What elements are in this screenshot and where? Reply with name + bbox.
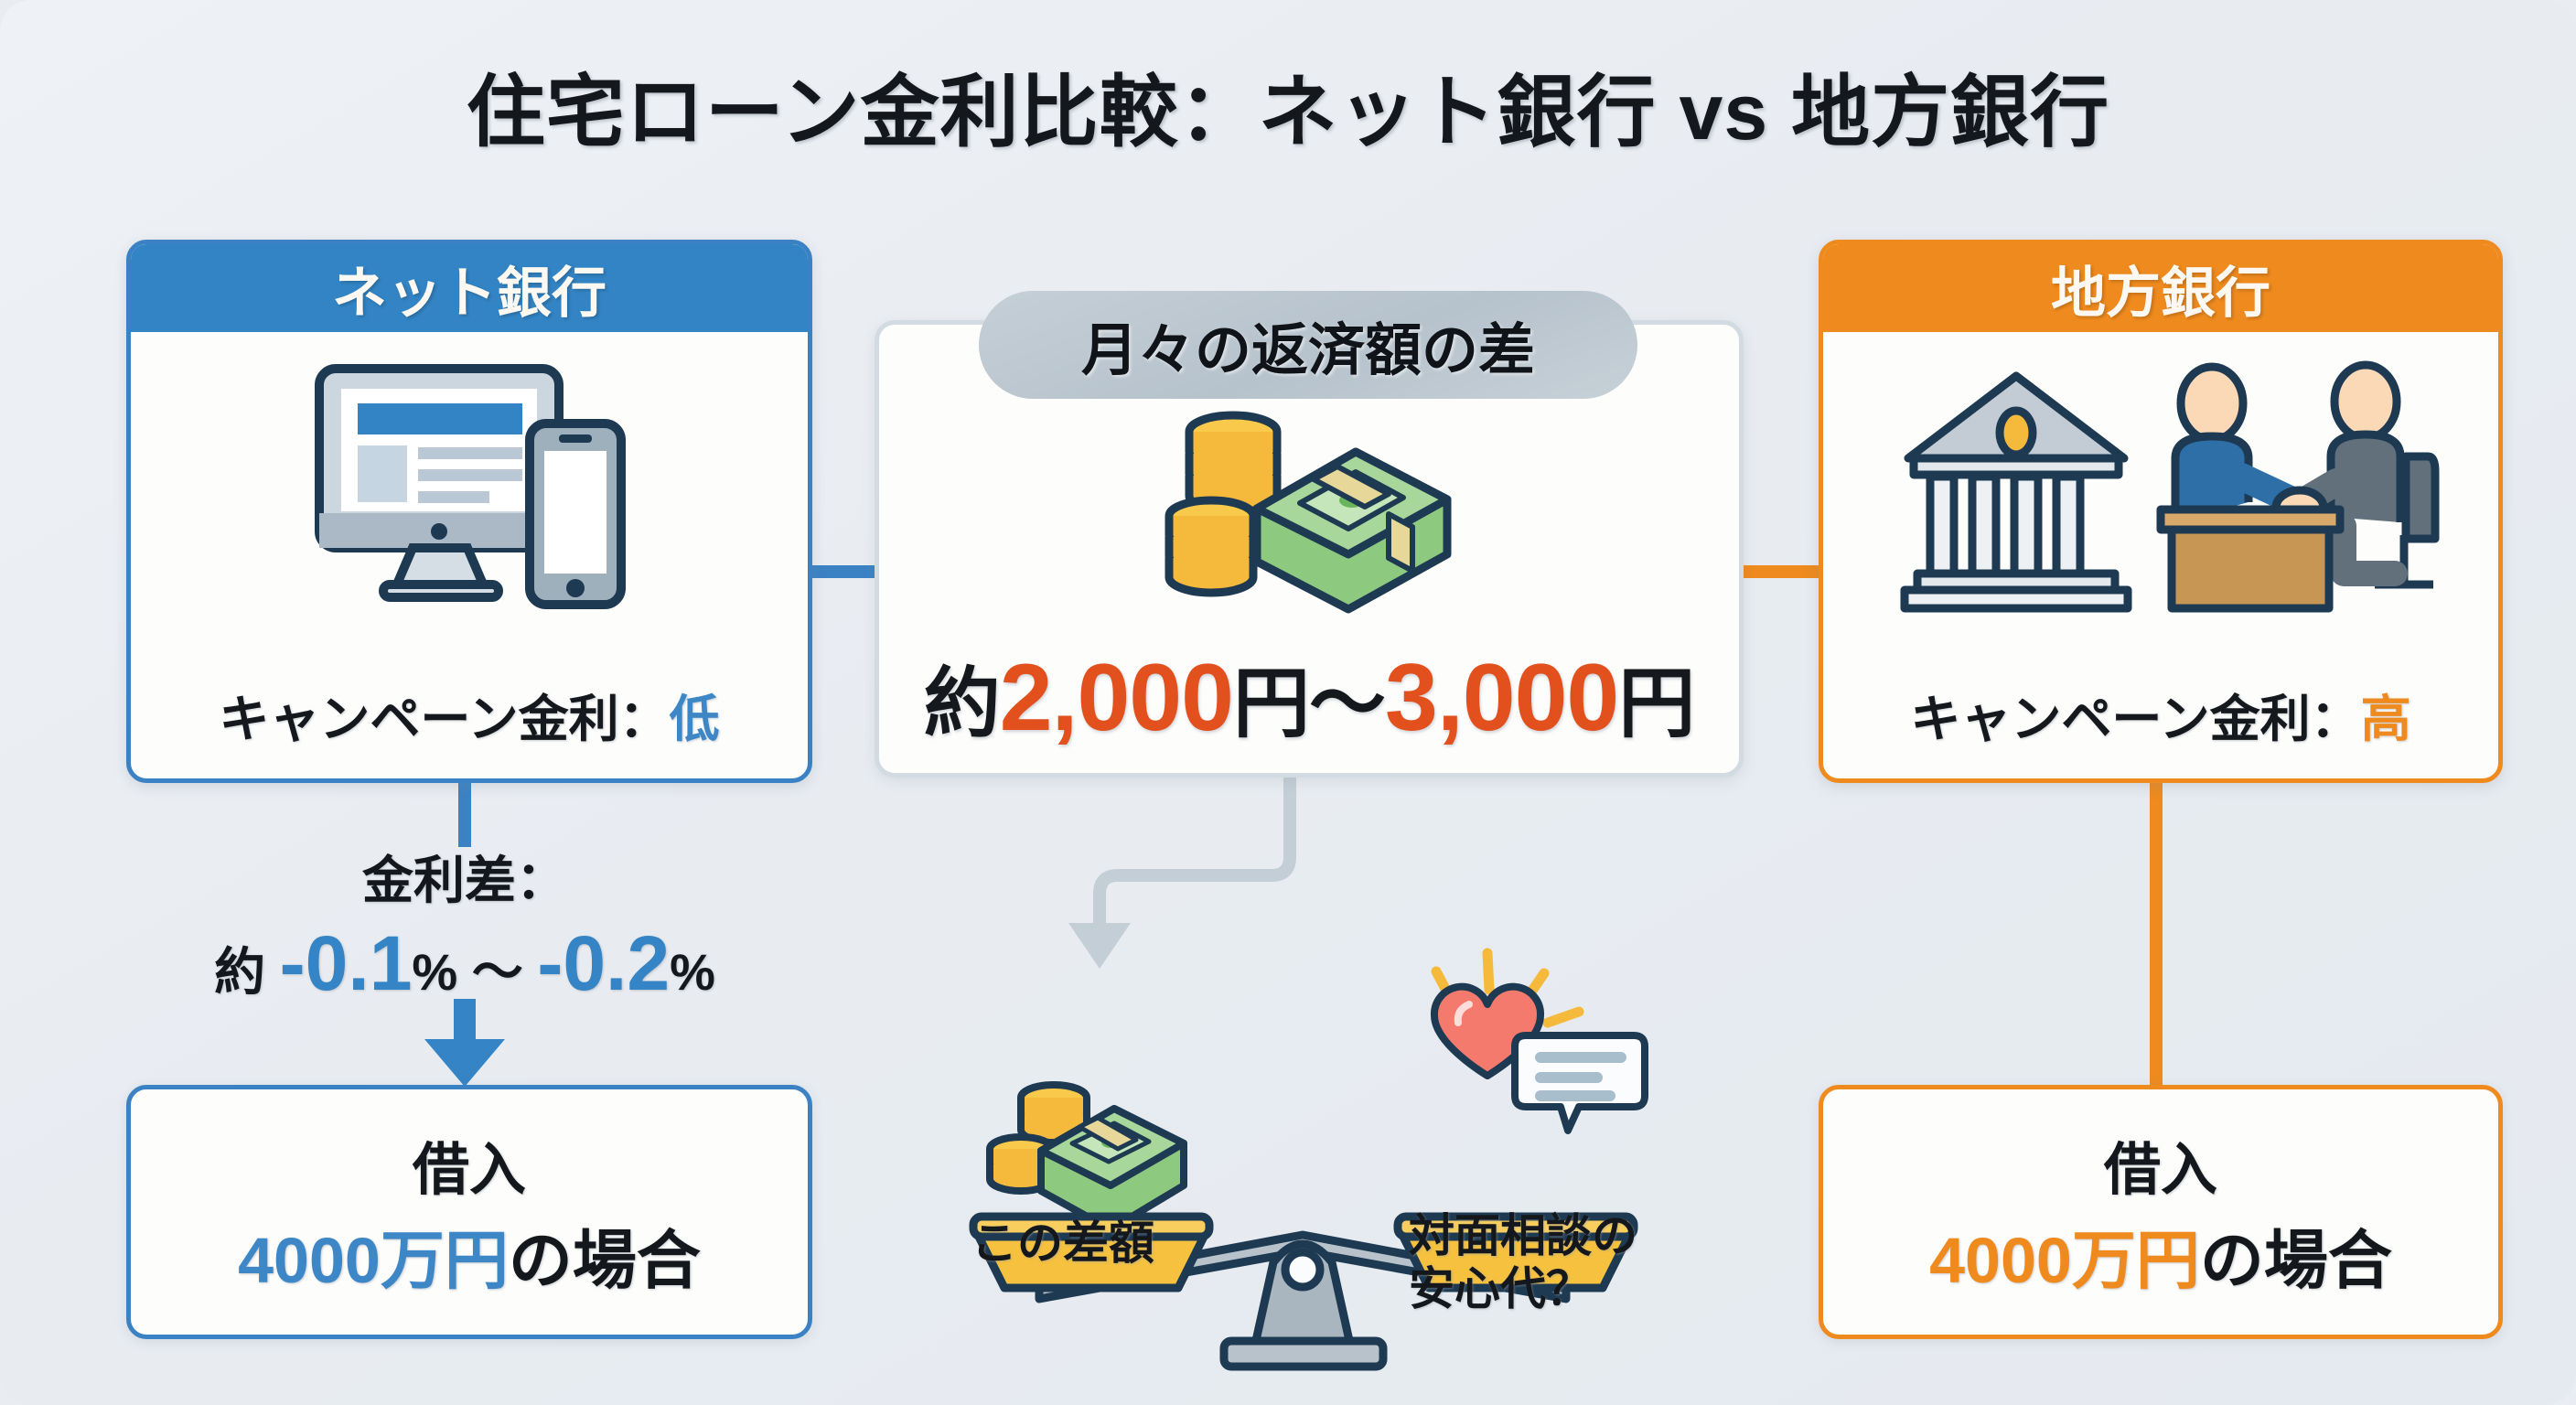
- net-bank-body: キャンペーン金利：低: [131, 332, 808, 778]
- rate-difference-value: 約 -0.1% 〜 -0.2%: [126, 919, 803, 1008]
- regional-result-suffix: の場合: [2200, 1225, 2392, 1296]
- center-amount: 約2,000円〜3,000円: [924, 642, 1695, 753]
- net-bank-result-box: 借入 4000万円の場合: [126, 1085, 812, 1339]
- regional-result-line1: 借入: [2104, 1123, 2217, 1206]
- center-amount-from: 2,000: [1000, 645, 1233, 751]
- scale-label-right: 対面相談の 安心代？: [1409, 1209, 1637, 1315]
- net-result-line1: 借入: [413, 1123, 526, 1206]
- center-amount-to: 3,000: [1385, 645, 1618, 751]
- center-prefix: 約: [924, 660, 1000, 746]
- desktop-and-phone-icon: [305, 356, 634, 621]
- regional-result-line2: 4000万円の場合: [1929, 1209, 2392, 1302]
- rate-difference-label: 金利差：: [126, 840, 803, 914]
- net-result-suffix: の場合: [509, 1225, 701, 1296]
- center-badge: 月々の返済額の差: [979, 291, 1637, 399]
- rate-difference-block: 金利差： 約 -0.1% 〜 -0.2%: [126, 840, 803, 1008]
- net-bank-caption-value: 低: [670, 691, 720, 747]
- scale-label-right-line1: 対面相談の: [1409, 1209, 1637, 1262]
- connector-regional-card-down: [2150, 774, 2163, 1089]
- regional-result-amount: 4000万円: [1929, 1225, 2200, 1296]
- connector-center-to-regional: [1738, 565, 1822, 578]
- connector-net-card-down: [458, 774, 471, 847]
- rate-diff-to: -0.2: [537, 920, 670, 1006]
- rate-diff-prefix: 約: [214, 943, 280, 1001]
- infographic-canvas: 住宅ローン金利比較：ネット銀行 vs 地方銀行 ネット銀行: [0, 0, 2576, 1405]
- rate-diff-separator: 〜: [457, 943, 537, 1001]
- net-bank-header: ネット銀行: [131, 244, 808, 332]
- connector-net-to-center: [803, 565, 880, 578]
- regional-bank-body: キャンペーン金利：高: [1823, 332, 2498, 778]
- net-bank-caption: キャンペーン金利：低: [219, 678, 719, 751]
- net-result-line2: 4000万円の場合: [238, 1209, 701, 1302]
- regional-bank-header: 地方銀行: [1823, 244, 2498, 332]
- center-separator: 〜: [1309, 660, 1385, 746]
- scale-label-right-line2: 安心代？: [1409, 1262, 1637, 1315]
- net-bank-caption-label: キャンペーン金利：: [219, 691, 669, 747]
- money-stack-icon: [1158, 391, 1460, 622]
- regional-bank-caption: キャンペーン金利：高: [1910, 678, 2410, 751]
- regional-bank-card: 地方銀行: [1819, 240, 2503, 783]
- rate-diff-from: -0.1: [280, 920, 413, 1006]
- bank-building-and-handshake-icon: [1886, 356, 2435, 621]
- center-unit-to: 円: [1618, 660, 1694, 746]
- center-unit-from: 円: [1233, 660, 1309, 746]
- blue-down-arrow-icon: [413, 999, 516, 1089]
- regional-bank-caption-value: 高: [2361, 691, 2411, 747]
- rate-diff-pct-1: %: [412, 943, 457, 1001]
- regional-bank-result-box: 借入 4000万円の場合: [1819, 1085, 2503, 1339]
- page-title: 住宅ローン金利比較：ネット銀行 vs 地方銀行: [0, 48, 2576, 162]
- net-bank-card: ネット銀行 キャンペーン金: [126, 240, 812, 783]
- scale-label-left: この差額: [971, 1217, 1154, 1270]
- net-result-amount: 4000万円: [238, 1225, 509, 1296]
- rate-diff-pct-2: %: [670, 943, 715, 1001]
- regional-bank-caption-label: キャンペーン金利：: [1910, 691, 2360, 747]
